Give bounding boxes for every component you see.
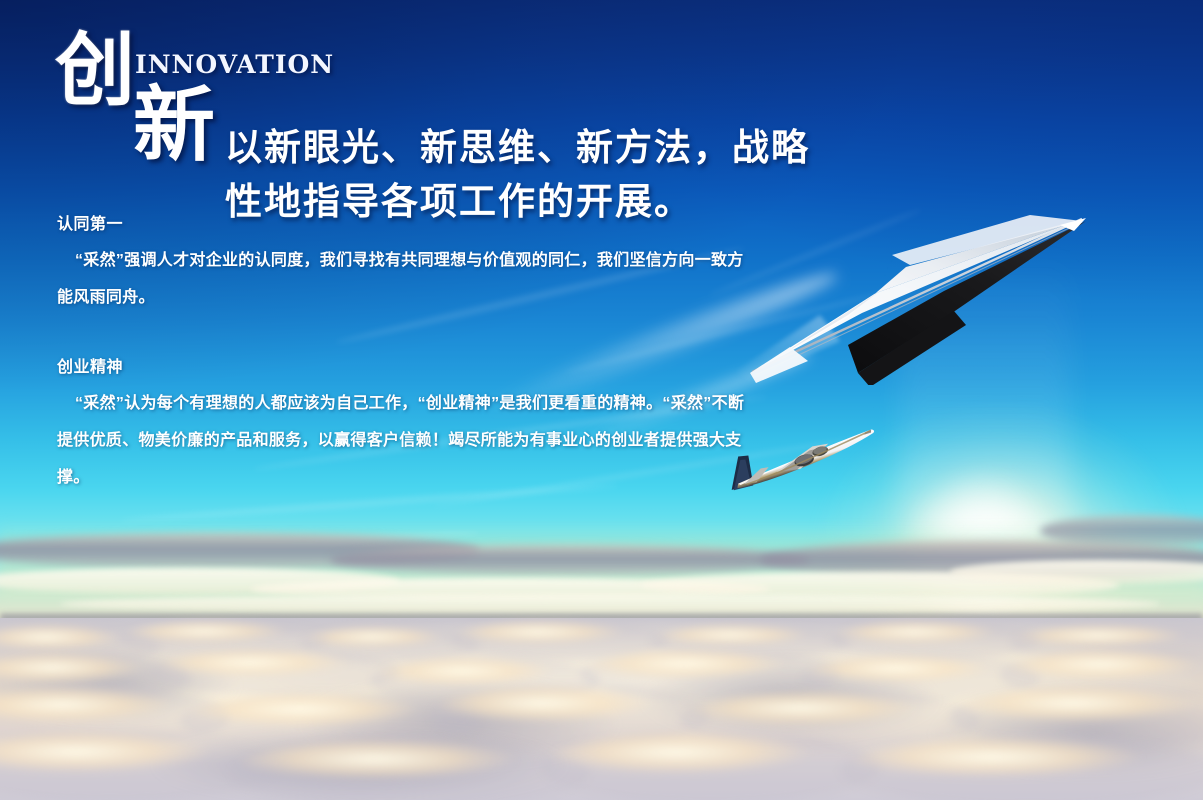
section-body: “采然”强调人才对企业的认同度，我们寻找有共同理想与价值观的同仁，我们坚信方向一…: [57, 242, 747, 316]
poster-text-layer: 创 INNOVATION 新 以新眼光、新思维、新方法，战略性地指导各项工作的开…: [0, 0, 1203, 800]
section-title: 认同第一: [57, 214, 747, 236]
hero-char-secondary: 新: [133, 84, 215, 166]
section-spirit: 创业精神 “采然”认为每个有理想的人都应该为自己工作，“创业精神”是我们更看重的…: [57, 357, 747, 496]
hero-subtitle-en: INNOVATION: [135, 52, 334, 77]
hero-tagline: 以新眼光、新思维、新方法，战略性地指导各项工作的开展。: [225, 120, 845, 228]
section-identity: 认同第一 “采然”强调人才对企业的认同度，我们寻找有共同理想与价值观的同仁，我们…: [57, 214, 747, 316]
section-body: “采然”认为每个有理想的人都应该为自己工作，“创业精神”是我们更看重的精神。“采…: [57, 385, 747, 496]
poster-canvas: 创 INNOVATION 新 以新眼光、新思维、新方法，战略性地指导各项工作的开…: [0, 0, 1203, 800]
hero-char-primary: 创: [55, 30, 135, 110]
section-title: 创业精神: [57, 357, 747, 379]
